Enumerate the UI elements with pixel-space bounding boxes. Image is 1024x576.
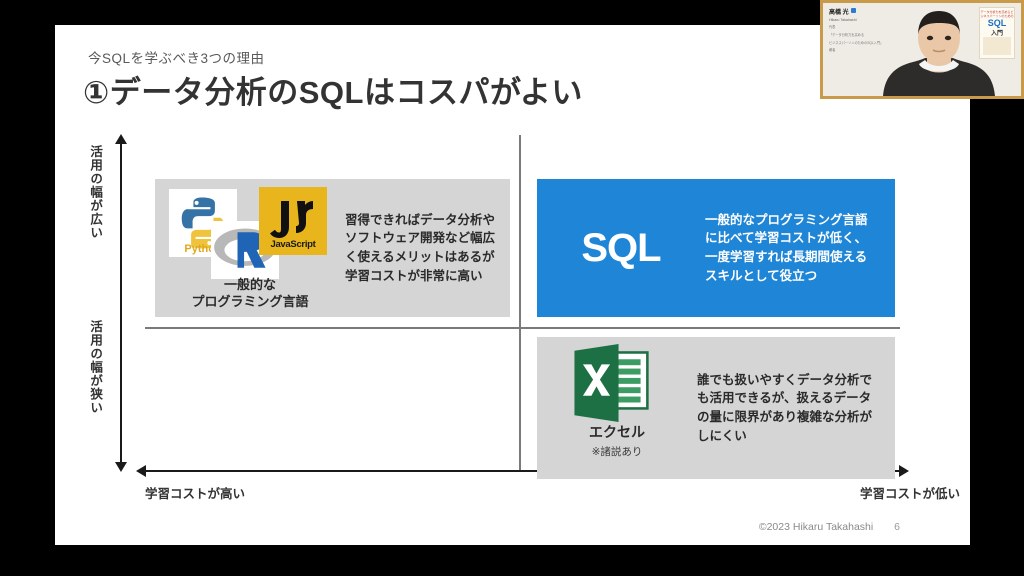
page-number: 6 [894, 521, 900, 533]
quadrant-excel: エクセル ※諸説あり 誰でも扱いやすくデータ分析でも活用できるが、扱えるデータの… [537, 337, 895, 479]
quadrant-programming-languages: Python JavaScript [155, 179, 510, 317]
speaker-role: 代表 [829, 25, 891, 30]
verified-badge-icon [851, 8, 856, 13]
quadrant-description-sql: 一般的なプログラミング言語に比べて学習コストが低く、一度学習すれば長期間使えるス… [705, 211, 895, 286]
sql-headline: SQL [537, 226, 705, 271]
slide-eyebrow: 今SQLを学ぶべき3つの理由 [88, 47, 265, 67]
quadrant-description-languages: 習得できればデータ分析やソフトウェア開発など幅広く使えるメリットはあるが学習コス… [345, 211, 510, 286]
axis-label-y-top: 活用の幅が広い [88, 145, 101, 240]
speaker-romaji: Hikaru Takahashi [829, 18, 891, 22]
copyright-text: ©2023 Hikaru Takahashi [759, 521, 873, 533]
caption-line-2: プログラミング言語 [155, 293, 345, 311]
slide-footer: ©2023 Hikaru Takahashi 6 [759, 521, 900, 533]
speaker-name: 高橋 光 [829, 7, 891, 16]
speaker-bio-line-2: ビジネスパーソンのためのSQL入門」 [829, 41, 891, 46]
javascript-logo-label: JavaScript [259, 239, 327, 250]
excel-logo [561, 344, 671, 422]
speaker-name-text: 高橋 光 [829, 10, 849, 16]
quadrant-caption-languages: 一般的な プログラミング言語 [155, 276, 345, 311]
excel-note: ※諸説あり [537, 444, 697, 459]
speaker-name-card: 高橋 光 Hikaru Takahashi 代表 「データ分析力を高める ビジネ… [829, 7, 891, 53]
excel-logo-wrap: エクセル ※諸説あり [537, 344, 697, 472]
quadrant-divider-vertical [519, 135, 521, 470]
axis-label-y-bottom: 活用の幅が狭い [88, 320, 101, 415]
vertical-axis [120, 143, 122, 463]
page-title: ①データ分析のSQLはコスパがよい [83, 67, 583, 112]
caption-line-1: 一般的な [155, 276, 345, 294]
speaker-bio-line-3: 著者 [829, 48, 891, 53]
screen-background: 今SQLを学ぶべき3つの理由 ①データ分析のSQLはコスパがよい 活用の幅が広い… [0, 0, 1024, 576]
axis-label-x-left: 学習コストが高い [145, 483, 245, 502]
webcam-overlay[interactable]: 高橋 光 Hikaru Takahashi 代表 「データ分析力を高める ビジネ… [820, 0, 1024, 99]
speaker-video [883, 8, 995, 96]
axis-label-x-right: 学習コストが低い [860, 483, 960, 502]
quadrant-chart: 活用の幅が広い 活用の幅が狭い 学習コストが高い 学習コストが低い Python [55, 125, 970, 545]
arrow-right-icon [899, 465, 909, 477]
arrow-left-icon [136, 465, 146, 477]
slide: 今SQLを学ぶべき3つの理由 ①データ分析のSQLはコスパがよい 活用の幅が広い… [55, 25, 970, 545]
arrow-up-icon [115, 134, 127, 144]
quadrant-description-excel: 誰でも扱いやすくデータ分析でも活用できるが、扱えるデータの量に限界があり複雑な分… [697, 371, 895, 446]
speaker-bio-line-1: 「データ分析力を高める [829, 33, 891, 38]
arrow-down-icon [115, 462, 127, 472]
excel-caption: エクセル [537, 422, 697, 442]
language-logos: Python JavaScript [155, 183, 345, 313]
quadrant-sql: SQL 一般的なプログラミング言語に比べて学習コストが低く、一度学習すれば長期間… [537, 179, 895, 317]
quadrant-divider-horizontal [145, 327, 900, 329]
